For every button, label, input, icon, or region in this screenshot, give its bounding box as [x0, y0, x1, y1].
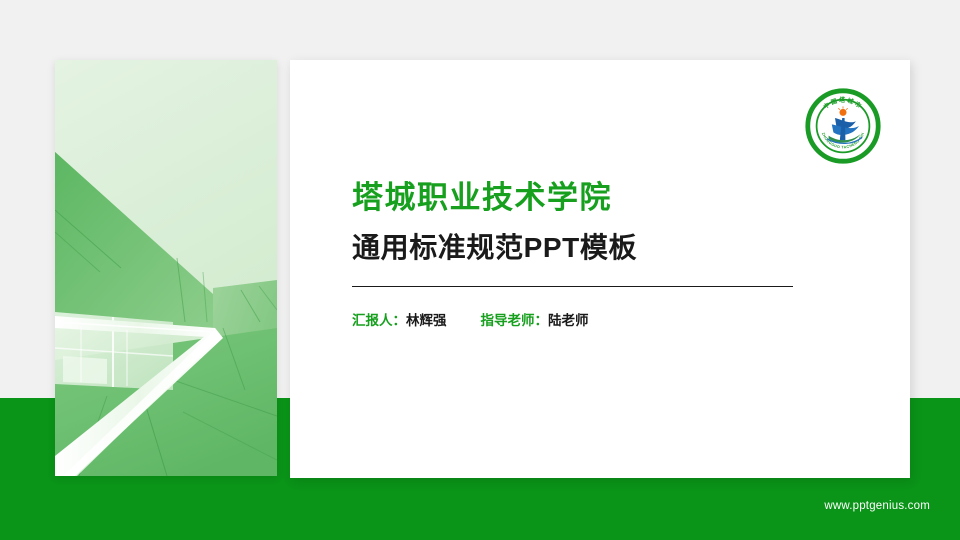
green-tinted-architecture-photo	[55, 60, 277, 476]
title-divider	[352, 286, 793, 287]
title-text-block: 塔城职业技术学院 通用标准规范PPT模板 汇报人：林辉强指导老师：陆老师	[352, 180, 857, 329]
advisor-name: 陆老师	[548, 313, 589, 328]
page-title: 塔城职业技术学院	[352, 180, 857, 217]
title-card: 中国塔城市 ZHONGGUO TACHENG SHI 塔城职业技术学院 通用标准…	[290, 60, 910, 478]
presenter-name: 林辉强	[406, 313, 447, 328]
cover-photo-panel	[55, 60, 277, 476]
footer-url: www.pptgenius.com	[824, 500, 930, 512]
presenter-label: 汇报人：	[352, 313, 406, 328]
college-logo-icon: 中国塔城市 ZHONGGUO TACHENG SHI	[803, 86, 883, 166]
page-subtitle: 通用标准规范PPT模板	[352, 231, 857, 264]
advisor-label: 指导老师：	[481, 313, 549, 328]
byline: 汇报人：林辉强指导老师：陆老师	[352, 309, 857, 329]
